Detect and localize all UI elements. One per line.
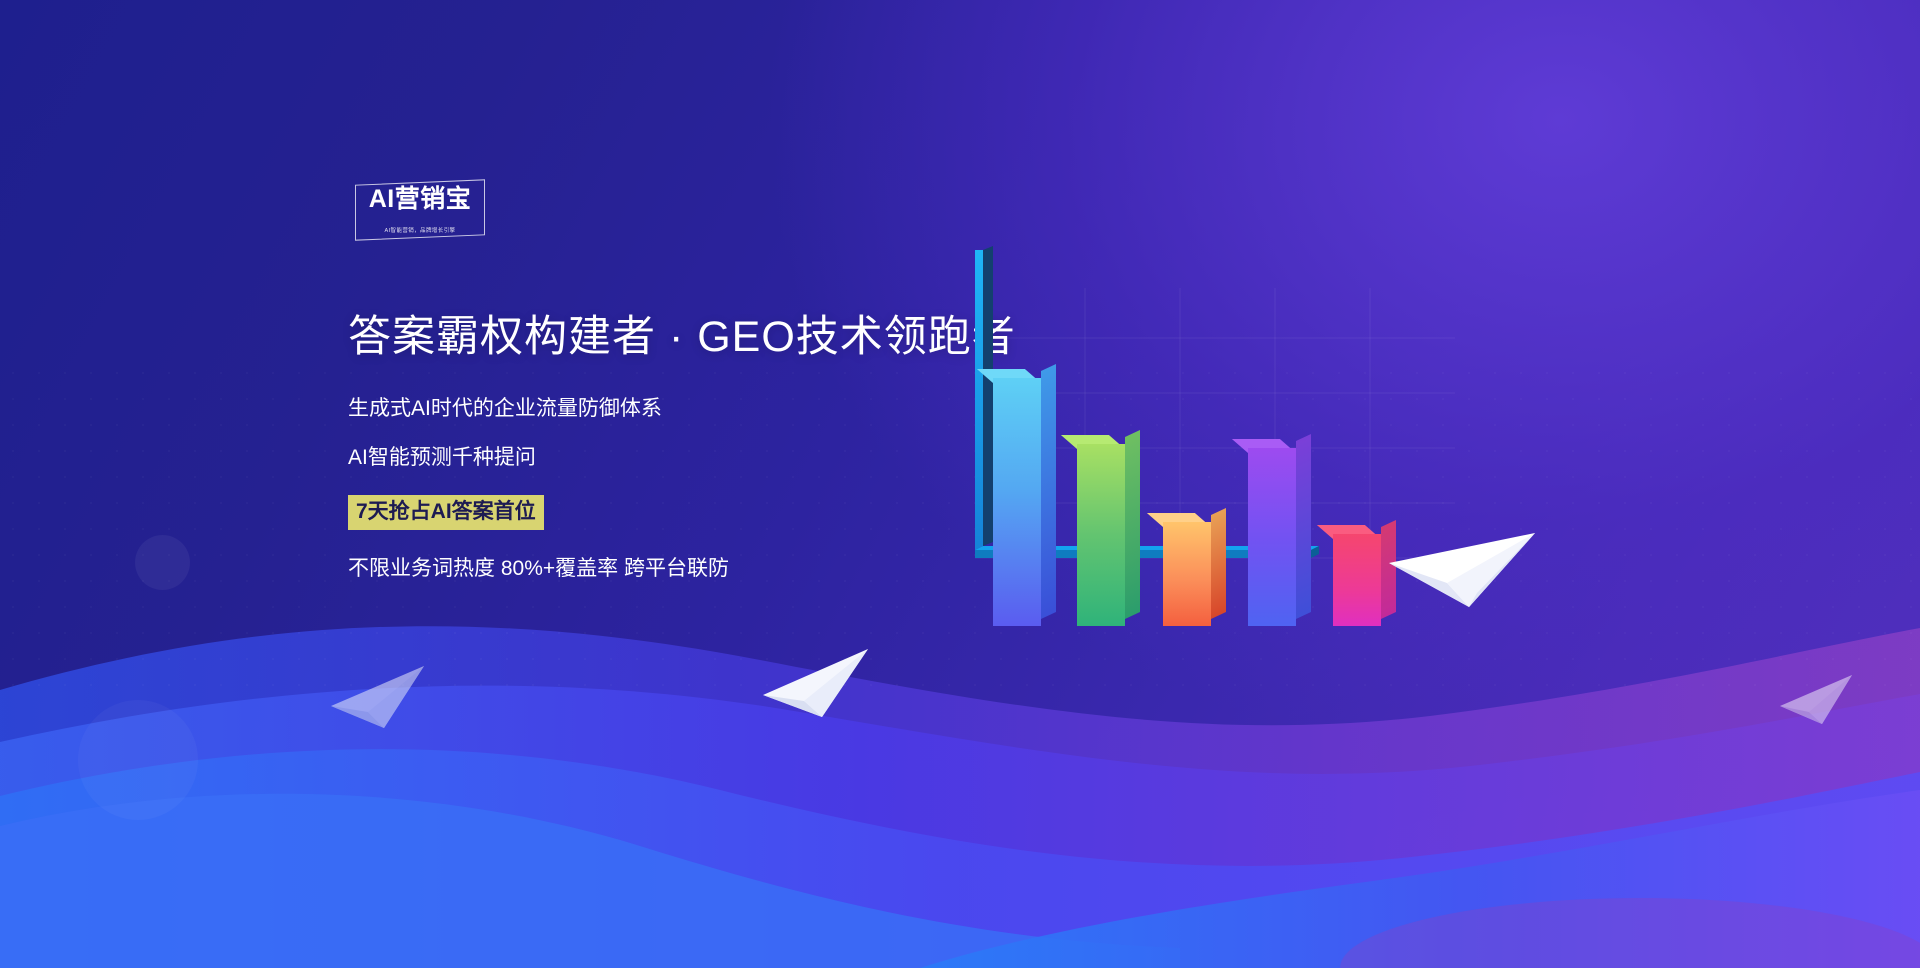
paper-plane-left xyxy=(328,662,428,736)
circle-left-large xyxy=(78,700,198,820)
paper-plane-center xyxy=(760,645,872,727)
paper-plane-far-right xyxy=(1778,672,1856,730)
circle-left-small xyxy=(135,535,190,590)
hero-banner: AI营销宝 AI智能营销，品牌增长引擎 答案霸权构建者 · GEO技术领跑者 生… xyxy=(0,0,1920,968)
logo-brand-text: AI营销宝 xyxy=(355,187,485,212)
copy-block: 答案霸权构建者 · GEO技术领跑者 生成式AI时代的企业流量防御体系 AI智能… xyxy=(348,312,1028,579)
bar-5-face xyxy=(1333,534,1381,626)
bar-1-side xyxy=(1041,364,1056,619)
bar-3 xyxy=(1163,522,1211,626)
y-axis xyxy=(975,250,983,550)
highlight-badge: 7天抢占AI答案首位 xyxy=(348,495,544,530)
bar-4-face xyxy=(1248,448,1296,626)
bar-2-face xyxy=(1077,444,1125,626)
y-axis-side xyxy=(983,246,993,546)
bar-4 xyxy=(1248,448,1296,626)
highlight-row: 7天抢占AI答案首位 xyxy=(348,495,1028,530)
bar-3-side xyxy=(1211,508,1226,619)
bar-chart-illustration xyxy=(975,288,1455,668)
bar-5 xyxy=(1333,534,1381,626)
subtitle-line-1: 生成式AI时代的企业流量防御体系 xyxy=(348,398,1028,419)
logo-tagline-text: AI智能营销，品牌增长引擎 xyxy=(355,226,485,234)
paper-plane-right-large xyxy=(1385,515,1540,625)
bar-1 xyxy=(993,378,1041,626)
bar-4-side xyxy=(1296,434,1311,619)
bar-3-face xyxy=(1163,522,1211,626)
subtitle-line-4: 不限业务词热度 80%+覆盖率 跨平台联防 xyxy=(348,558,1028,579)
bar-1-face xyxy=(993,378,1041,626)
subtitle-line-2: AI智能预测千种提问 xyxy=(348,447,1028,468)
bar-2-side xyxy=(1125,430,1140,619)
logo[interactable]: AI营销宝 AI智能营销，品牌增长引擎 xyxy=(355,182,485,238)
bar-2 xyxy=(1077,444,1125,626)
headline: 答案霸权构建者 · GEO技术领跑者 xyxy=(348,312,1028,364)
